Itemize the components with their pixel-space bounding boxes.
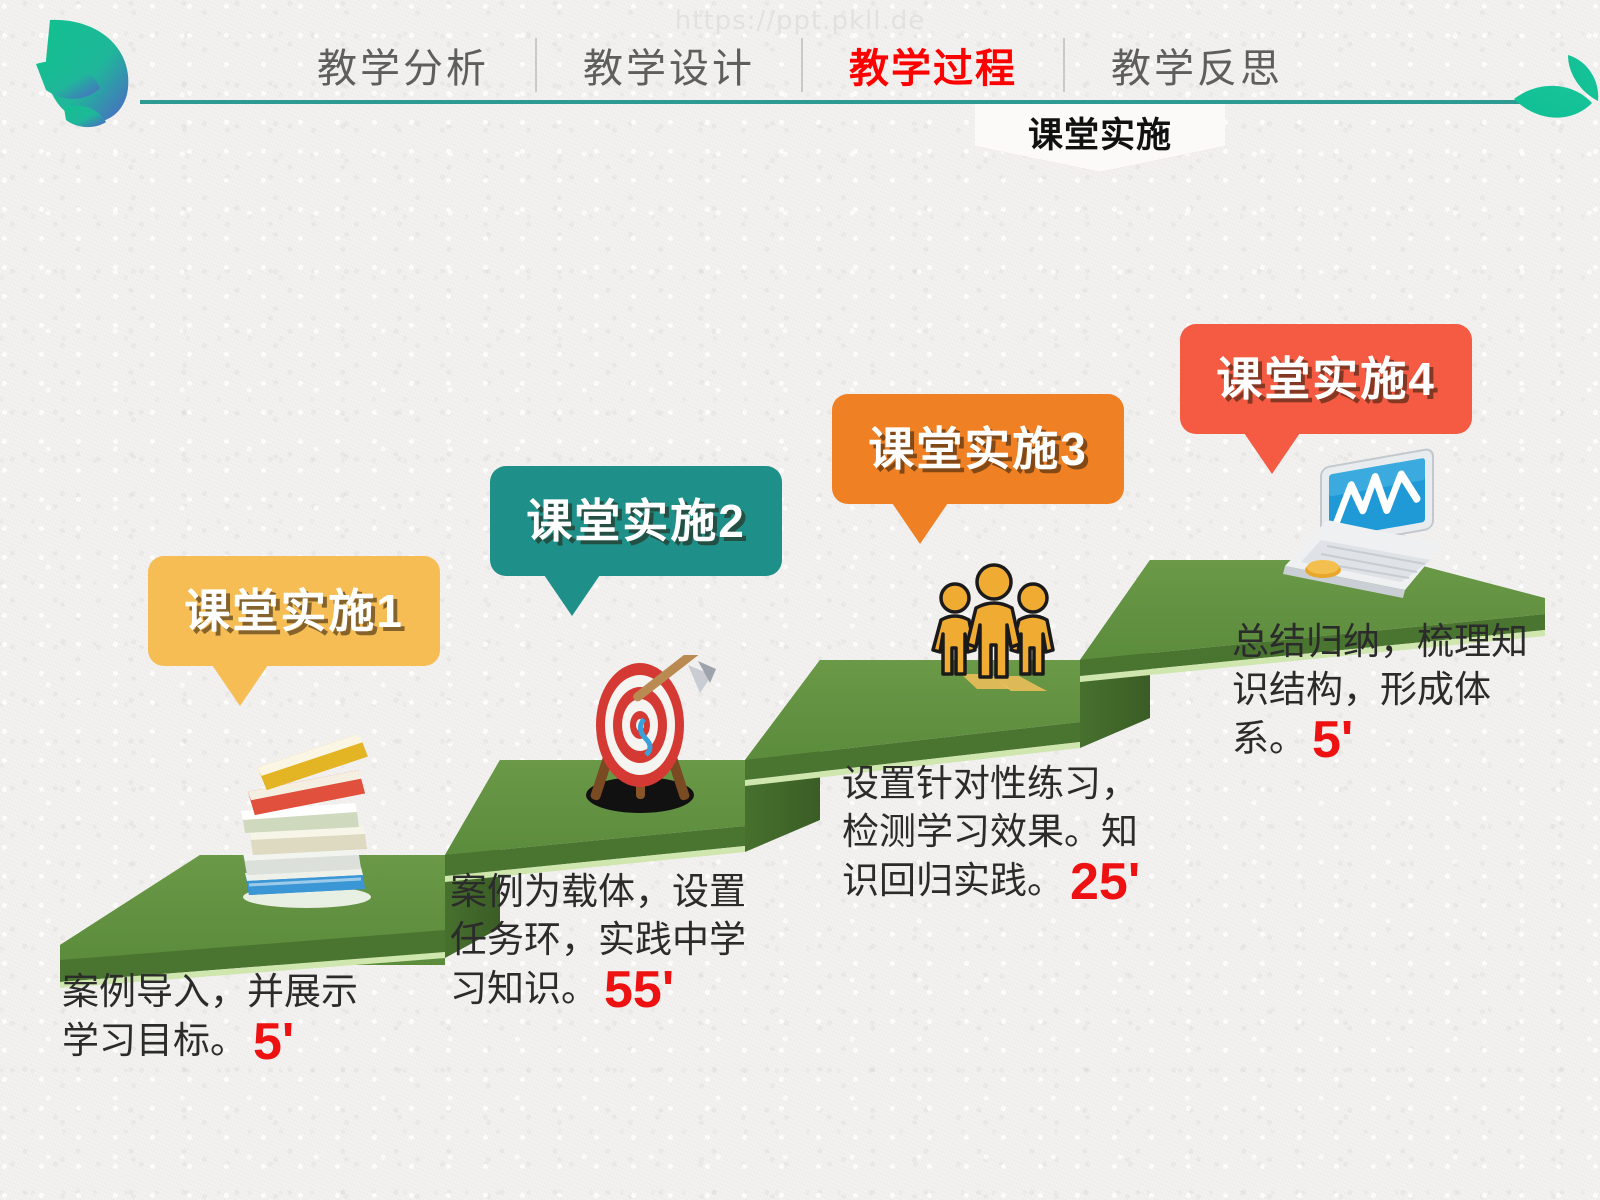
description-text-1: 案例导入，并展示学习目标。 xyxy=(62,971,358,1061)
bubble-step-3[interactable]: 课堂实施3 xyxy=(832,394,1124,504)
bubble-tail-3 xyxy=(890,500,950,544)
description-step-1: 案例导入，并展示学习目标。5' xyxy=(62,968,382,1068)
duration-badge-1: 5' xyxy=(253,1013,294,1071)
nav-item-1[interactable]: 教学设计 xyxy=(537,36,801,94)
nav-item-0[interactable]: 教学分析 xyxy=(271,36,535,94)
duration-badge-2: 55' xyxy=(604,961,674,1019)
bubble-tail-2 xyxy=(542,572,602,616)
bubble-step-1[interactable]: 课堂实施1 xyxy=(148,556,440,666)
nav-item-3[interactable]: 教学反思 xyxy=(1065,36,1329,94)
books-icon xyxy=(215,735,395,920)
duration-badge-3: 25' xyxy=(1070,853,1140,911)
section-banner-title: 课堂实施 xyxy=(1028,107,1172,158)
nav-underline-rule xyxy=(140,100,1540,104)
people-group-icon xyxy=(915,558,1075,698)
bubble-label-4: 课堂实施4 xyxy=(1216,356,1436,402)
description-step-2: 案例为载体，设置任务环，实践中学习知识。55' xyxy=(450,868,750,1016)
bubble-tail-4 xyxy=(1242,430,1302,474)
bubble-step-4[interactable]: 课堂实施4 xyxy=(1180,324,1472,434)
bubble-step-2[interactable]: 课堂实施2 xyxy=(490,466,782,576)
bubble-label-1: 课堂实施1 xyxy=(184,588,404,634)
description-text-2: 案例为载体，设置任务环，实践中学习知识。 xyxy=(450,871,746,1009)
description-step-4: 总结归纳，梳理知识结构，形成体系。5' xyxy=(1232,618,1542,766)
duration-badge-4: 5' xyxy=(1312,711,1353,769)
target-arrow-icon xyxy=(560,655,730,830)
description-text-4: 总结归纳，梳理知识结构，形成体系。 xyxy=(1232,621,1528,759)
bubble-tail-1 xyxy=(210,662,270,706)
slide-canvas: https://ppt.pkll.de xyxy=(0,0,1600,1200)
nav-item-2[interactable]: 教学过程 xyxy=(803,36,1063,94)
top-nav: 教学分析 教学设计 教学过程 教学反思 xyxy=(0,36,1600,94)
description-step-3: 设置针对性练习，检测学习效果。知识回归实践。25' xyxy=(842,760,1142,908)
watermark-text: https://ppt.pkll.de xyxy=(0,6,1600,36)
bubble-label-3: 课堂实施3 xyxy=(868,426,1088,472)
bubble-label-2: 课堂实施2 xyxy=(526,498,746,544)
